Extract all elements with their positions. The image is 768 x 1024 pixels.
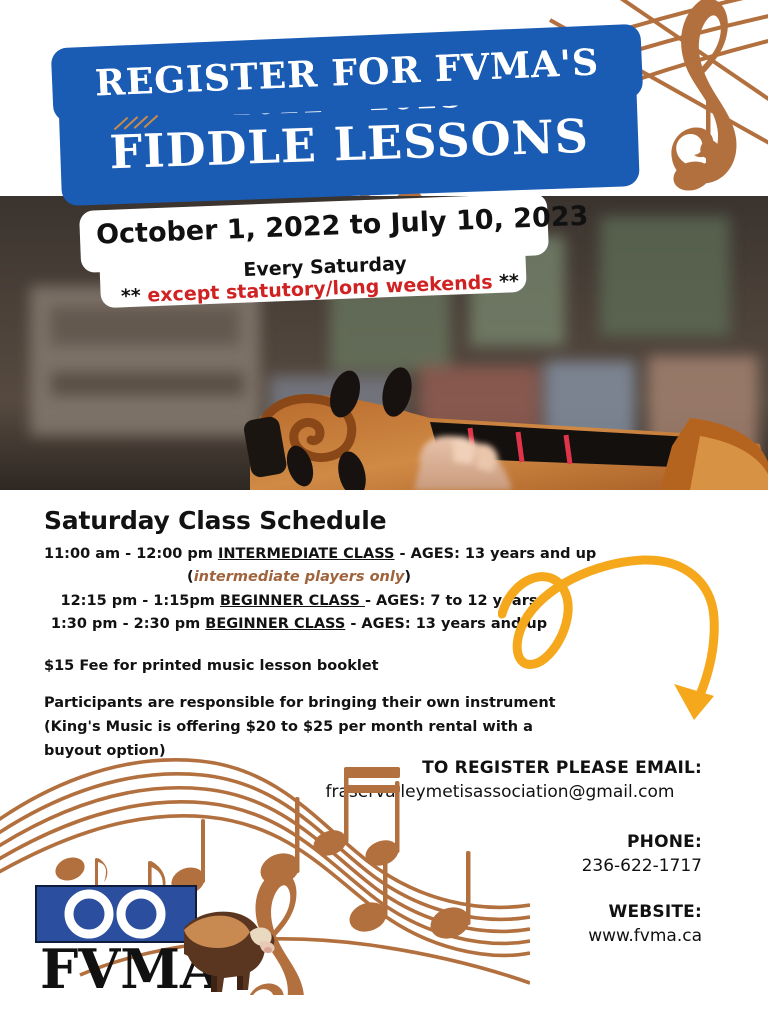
note-italic-text: intermediate players only xyxy=(194,569,405,585)
note-open-paren: ( xyxy=(187,569,194,585)
schedule-row-1-ages: - AGES: 13 years and up xyxy=(395,546,597,562)
fvma-logo: FVMA xyxy=(34,884,284,994)
schedule-row-2-ages: - AGES: 7 to 12 years xyxy=(365,593,538,609)
exception-prefix: ** xyxy=(121,285,148,308)
email-label: TO REGISTER PLEASE EMAIL: xyxy=(302,758,702,778)
spacer-2 xyxy=(302,876,702,902)
website-label: WEBSITE: xyxy=(302,902,702,922)
website-url[interactable]: www.fvma.ca xyxy=(302,926,702,946)
metis-flag xyxy=(36,886,196,942)
schedule-row-1: 11:00 am - 12:00 pm INTERMEDIATE CLASS -… xyxy=(44,543,554,566)
schedule-row-1-time: 11:00 am - 12:00 pm xyxy=(44,546,218,562)
title-line1-text: REGISTER FOR FVMA'S xyxy=(94,44,599,101)
schedule-row-2-class: BEGINNER CLASS xyxy=(220,593,365,609)
participant-notes: Participants are responsible for bringin… xyxy=(44,692,584,764)
participant-note-line2: (King's Music is offering $20 to $25 per… xyxy=(44,716,584,764)
schedule-row-2-time: 12:15 pm - 1:15pm xyxy=(61,593,220,609)
phone-number[interactable]: 236-622-1717 xyxy=(302,856,702,876)
schedule-row-3-class: BEGINNER CLASS xyxy=(205,616,345,632)
schedule-heading: Saturday Class Schedule xyxy=(44,506,386,535)
note-close-paren: ) xyxy=(404,569,411,585)
email-address[interactable]: fraservalleymetisassociation@gmail.com xyxy=(302,782,702,802)
phone-label: PHONE: xyxy=(302,832,702,852)
exception-suffix: ** xyxy=(492,270,519,293)
contact-block: TO REGISTER PLEASE EMAIL: fraservalleyme… xyxy=(302,758,702,946)
spacer-1 xyxy=(302,802,702,832)
intermediate-note: (intermediate players only) xyxy=(44,566,554,589)
booklet-fee-text: $15 Fee for printed music lesson booklet xyxy=(44,658,379,674)
schedule-list: 11:00 am - 12:00 pm INTERMEDIATE CLASS -… xyxy=(44,543,554,637)
poster-canvas: REGISTER FOR FVMA'S 2022 - 2023 FIDDLE L… xyxy=(0,0,768,1024)
schedule-row-3-time: 1:30 pm - 2:30 pm xyxy=(51,616,205,632)
title-line3-text: FIDDLE LESSONS xyxy=(109,111,590,176)
schedule-row-3-ages: - AGES: 13 years and up xyxy=(345,616,547,632)
participant-note-line1: Participants are responsible for bringin… xyxy=(44,692,584,716)
schedule-row-1-class: INTERMEDIATE CLASS xyxy=(218,546,395,562)
schedule-row-3: 1:30 pm - 2:30 pm BEGINNER CLASS - AGES:… xyxy=(44,613,554,636)
schedule-row-2: 12:15 pm - 1:15pm BEGINNER CLASS - AGES:… xyxy=(44,590,554,613)
